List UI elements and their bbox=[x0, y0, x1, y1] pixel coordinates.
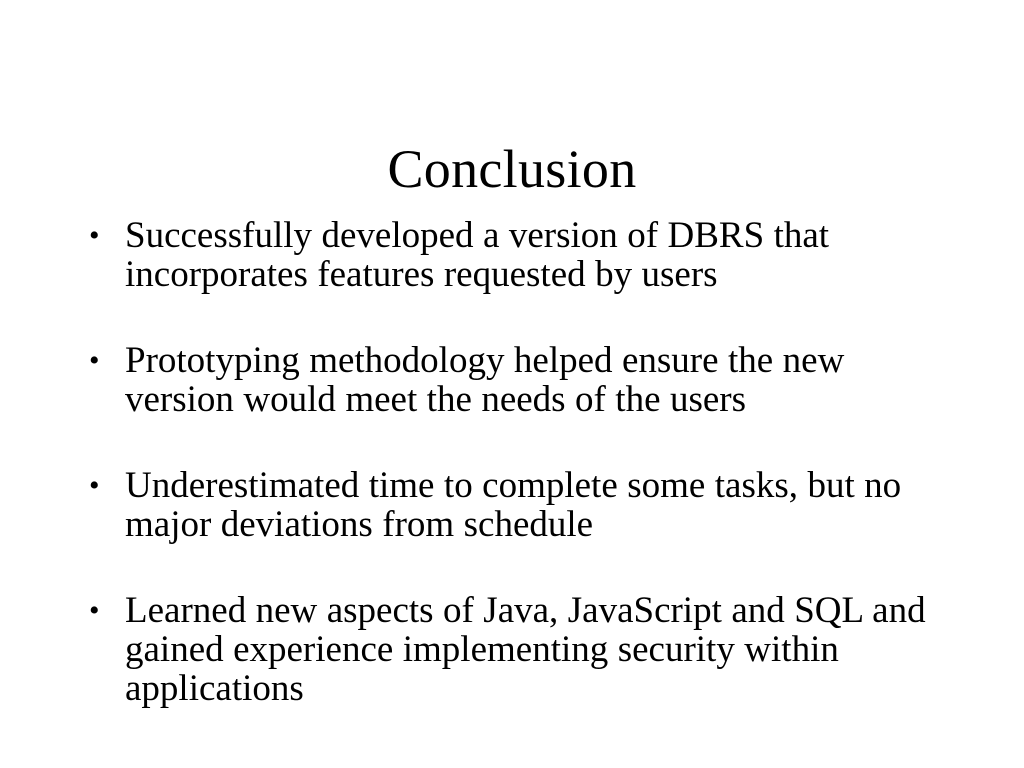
page-title: Conclusion bbox=[0, 138, 1024, 200]
bullet-point-icon: • bbox=[89, 466, 111, 505]
list-item: • Prototyping methodology helped ensure … bbox=[86, 341, 946, 419]
bullet-list: • Successfully developed a version of DB… bbox=[86, 216, 946, 708]
presentation-slide: Conclusion • Successfully developed a ve… bbox=[0, 0, 1024, 768]
list-item-text: Learned new aspects of Java, JavaScript … bbox=[125, 591, 946, 708]
list-item-text: Prototyping methodology helped ensure th… bbox=[125, 341, 946, 419]
list-item: • Learned new aspects of Java, JavaScrip… bbox=[86, 591, 946, 708]
list-item-text: Underestimated time to complete some tas… bbox=[125, 466, 946, 544]
list-item: • Successfully developed a version of DB… bbox=[86, 216, 946, 294]
bullet-point-icon: • bbox=[89, 341, 111, 380]
bullet-point-icon: • bbox=[89, 591, 111, 630]
list-item: • Underestimated time to complete some t… bbox=[86, 466, 946, 544]
bullet-point-icon: • bbox=[89, 216, 111, 255]
list-item-text: Successfully developed a version of DBRS… bbox=[125, 216, 946, 294]
